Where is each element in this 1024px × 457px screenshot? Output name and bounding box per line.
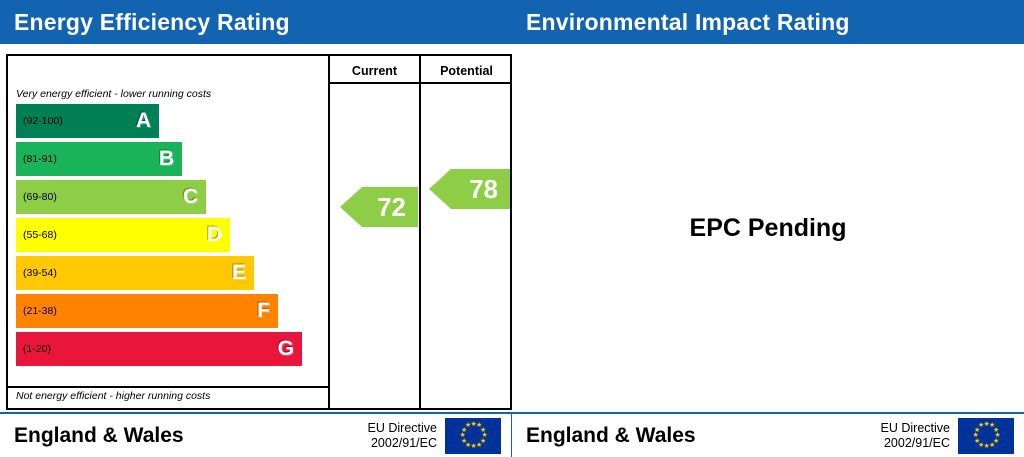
footer-region-left: England & Wales	[0, 424, 368, 448]
column-header-current: Current	[330, 60, 419, 82]
band-range-e: (39-54)	[23, 267, 57, 279]
eu-star-icon: ★	[974, 439, 979, 444]
band-letter-c: C	[183, 185, 198, 209]
eu-star-icon: ★	[465, 423, 470, 428]
footer-left: England & Wales EU Directive 2002/91/EC …	[0, 412, 512, 457]
band-letter-b: B	[159, 147, 174, 171]
band-range-a: (92-100)	[23, 115, 63, 127]
epc-pending-message: EPC Pending	[512, 44, 1024, 412]
chart-bottom-rule	[8, 386, 328, 388]
band-row-e: (39-54) E	[10, 256, 328, 290]
footer-region-right: England & Wales	[512, 424, 881, 448]
band-letter-d: D	[207, 223, 222, 247]
eu-star-icon: ★	[471, 422, 476, 427]
column-divider-1	[328, 56, 330, 408]
eu-star-icon: ★	[460, 433, 465, 438]
energy-efficiency-panel: Current Potential Very energy efficient …	[0, 44, 512, 412]
footer-directive-left-line1: EU Directive	[368, 421, 437, 436]
band-row-b: (81-91) B	[10, 142, 328, 176]
eu-star-icon: ★	[984, 444, 989, 449]
eu-star-icon: ★	[461, 439, 466, 444]
column-divider-2	[419, 56, 421, 408]
band-row-c: (69-80) C	[10, 180, 328, 214]
footer-directive-left: EU Directive 2002/91/EC	[368, 421, 445, 451]
environmental-impact-title: Environmental Impact Rating	[512, 9, 850, 36]
eu-flag-icon: ★★★★★★★★★★★★	[445, 418, 501, 454]
eu-star-icon: ★	[471, 444, 476, 449]
footer-directive-right: EU Directive 2002/91/EC	[881, 421, 958, 451]
potential-rating-arrow: 78	[429, 169, 510, 209]
eu-star-icon: ★	[984, 422, 989, 427]
band-bar-a: (92-100) A	[16, 104, 159, 138]
eu-star-icon: ★	[973, 433, 978, 438]
band-range-b: (81-91)	[23, 153, 57, 165]
band-bar-e: (39-54) E	[16, 256, 254, 290]
band-row-g: (1-20) G	[10, 332, 328, 366]
band-range-f: (21-38)	[23, 305, 57, 317]
footer-directive-left-line2: 2002/91/EC	[368, 436, 437, 451]
band-bar-d: (55-68) D	[16, 218, 230, 252]
band-bar-g: (1-20) G	[16, 332, 302, 366]
column-header-potential: Potential	[421, 60, 512, 82]
band-range-d: (55-68)	[23, 229, 57, 241]
eu-flag-icon: ★★★★★★★★★★★★	[958, 418, 1014, 454]
energy-efficiency-header: Energy Efficiency Rating	[0, 0, 512, 44]
footer-right: England & Wales EU Directive 2002/91/EC …	[512, 412, 1024, 457]
environmental-impact-panel: EPC Pending	[512, 44, 1024, 412]
note-inefficient: Not energy efficient - higher running co…	[16, 390, 210, 402]
energy-efficiency-title: Energy Efficiency Rating	[0, 9, 290, 36]
band-row-a: (92-100) A	[10, 104, 328, 138]
current-rating-arrow: 72	[340, 187, 418, 227]
energy-rating-chart: Current Potential Very energy efficient …	[6, 54, 512, 410]
band-row-d: (55-68) D	[10, 218, 328, 252]
band-range-c: (69-80)	[23, 191, 57, 203]
column-header-rule	[328, 82, 510, 84]
band-range-g: (1-20)	[23, 343, 51, 355]
band-bar-b: (81-91) B	[16, 142, 182, 176]
band-bar-f: (21-38) F	[16, 294, 278, 328]
eu-star-icon: ★	[978, 423, 983, 428]
note-efficient: Very energy efficient - lower running co…	[16, 88, 211, 100]
epc-graphic: Energy Efficiency Rating Environmental I…	[0, 0, 1024, 457]
band-letter-g: G	[278, 337, 294, 361]
band-letter-a: A	[136, 109, 151, 133]
footer-directive-right-line1: EU Directive	[881, 421, 950, 436]
rating-bands: (92-100) A (81-91) B (69-80) C	[10, 104, 328, 370]
band-letter-f: F	[257, 299, 270, 323]
environmental-impact-header: Environmental Impact Rating	[512, 0, 1024, 44]
band-bar-c: (69-80) C	[16, 180, 206, 214]
footer-directive-right-line2: 2002/91/EC	[881, 436, 950, 451]
band-row-f: (21-38) F	[10, 294, 328, 328]
band-letter-e: E	[232, 261, 246, 285]
